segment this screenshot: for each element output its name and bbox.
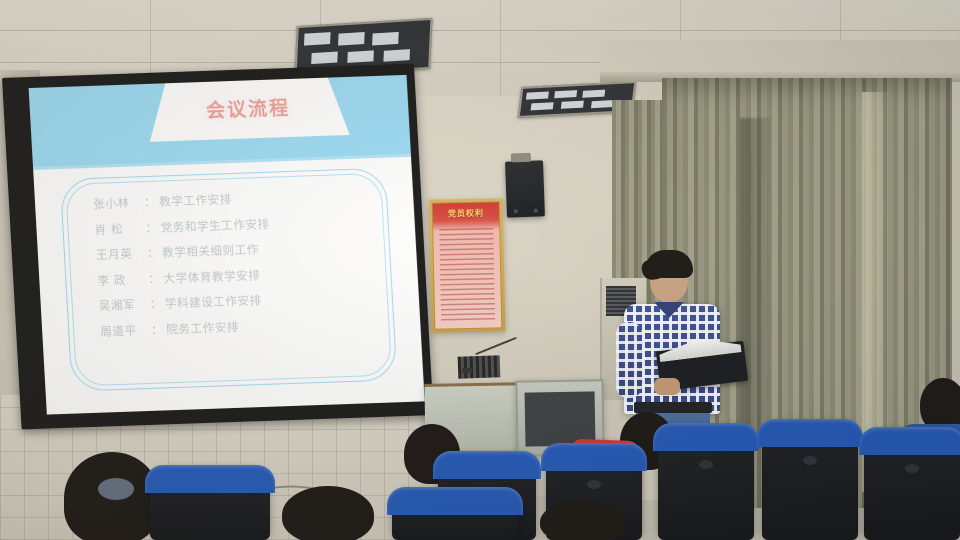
seat-rim <box>433 451 541 479</box>
poster-inner: 党员权利 <box>432 201 503 329</box>
hair-bow <box>98 478 134 500</box>
auditorium-seat <box>150 470 270 540</box>
seat-rim <box>145 465 275 493</box>
seat-rim <box>387 487 523 515</box>
agenda-speaker-name: 吴湘军 <box>98 296 147 314</box>
presenter-hand <box>654 378 680 395</box>
agenda-item: 吴湘军 ： 学科建设工作安排 <box>98 288 385 314</box>
agenda-separator: ： <box>145 219 158 235</box>
seat-rim <box>653 423 759 451</box>
microphone-rack <box>458 355 501 378</box>
agenda-speaker-name: 王月英 <box>96 245 145 263</box>
auditorium-seat <box>658 428 754 540</box>
slide-title: 会议流程 <box>205 92 290 122</box>
agenda-separator: ： <box>149 296 162 312</box>
seat-rim <box>541 443 647 471</box>
agenda-separator: ： <box>147 245 160 261</box>
audience-head <box>282 486 374 540</box>
agenda-separator: ： <box>144 194 157 210</box>
agenda-speaker-name: 张小林 <box>93 194 142 212</box>
auditorium-seat <box>762 424 858 540</box>
agenda-speaker-name: 周道平 <box>100 322 149 340</box>
agenda-item: 李 政 ： 大学体育教学安排 <box>97 262 384 288</box>
room-photo-scene: 会议流程 张小林 ： 教学工作安排 肖 松 ： 党务和学生工作安排 王月英 ： … <box>0 0 960 540</box>
agenda-item: 肖 松 ： 党务和学生工作安排 <box>94 211 381 237</box>
agenda-separator: ： <box>151 321 164 337</box>
agenda-separator: ： <box>148 270 161 286</box>
agenda-topic: 大学体育教学安排 <box>163 267 261 286</box>
agenda-topic: 学科建设工作安排 <box>164 292 262 311</box>
agenda-topic: 教学工作安排 <box>159 191 232 210</box>
agenda-item: 王月英 ： 教学相关细则工作 <box>96 237 383 263</box>
audience-head <box>540 500 626 540</box>
microphone-base <box>462 368 472 373</box>
slide-surface: 会议流程 张小林 ： 教学工作安排 肖 松 ： 党务和学生工作安排 王月英 ： … <box>29 75 425 415</box>
presenter-hair <box>645 250 693 278</box>
wall-poster: 党员权利 <box>429 198 506 333</box>
slide-title-tab: 会议流程 <box>146 75 349 142</box>
auditorium-seat <box>392 492 518 540</box>
auditorium-seat <box>864 432 960 540</box>
projection-screen: 会议流程 张小林 ： 教学工作安排 肖 松 ： 党务和学生工作安排 王月英 ： … <box>2 64 433 430</box>
agenda-list: 张小林 ： 教学工作安排 肖 松 ： 党务和学生工作安排 王月英 ： 教学相关细… <box>93 186 387 339</box>
seat-rim <box>757 419 863 447</box>
poster-title: 党员权利 <box>433 207 499 219</box>
agenda-speaker-name: 李 政 <box>97 271 146 289</box>
speaker-bracket <box>511 153 531 163</box>
poster-body-text <box>439 226 495 320</box>
curtain-fold <box>740 118 770 448</box>
agenda-topic: 院务工作安排 <box>166 318 239 337</box>
agenda-topic: 教学相关细则工作 <box>162 241 260 260</box>
speaker-icon <box>505 160 545 217</box>
agenda-topic: 党务和学生工作安排 <box>160 215 270 235</box>
agenda-speaker-name: 肖 松 <box>94 220 143 238</box>
presenter-arm <box>616 322 642 398</box>
seat-rim <box>859 427 960 455</box>
